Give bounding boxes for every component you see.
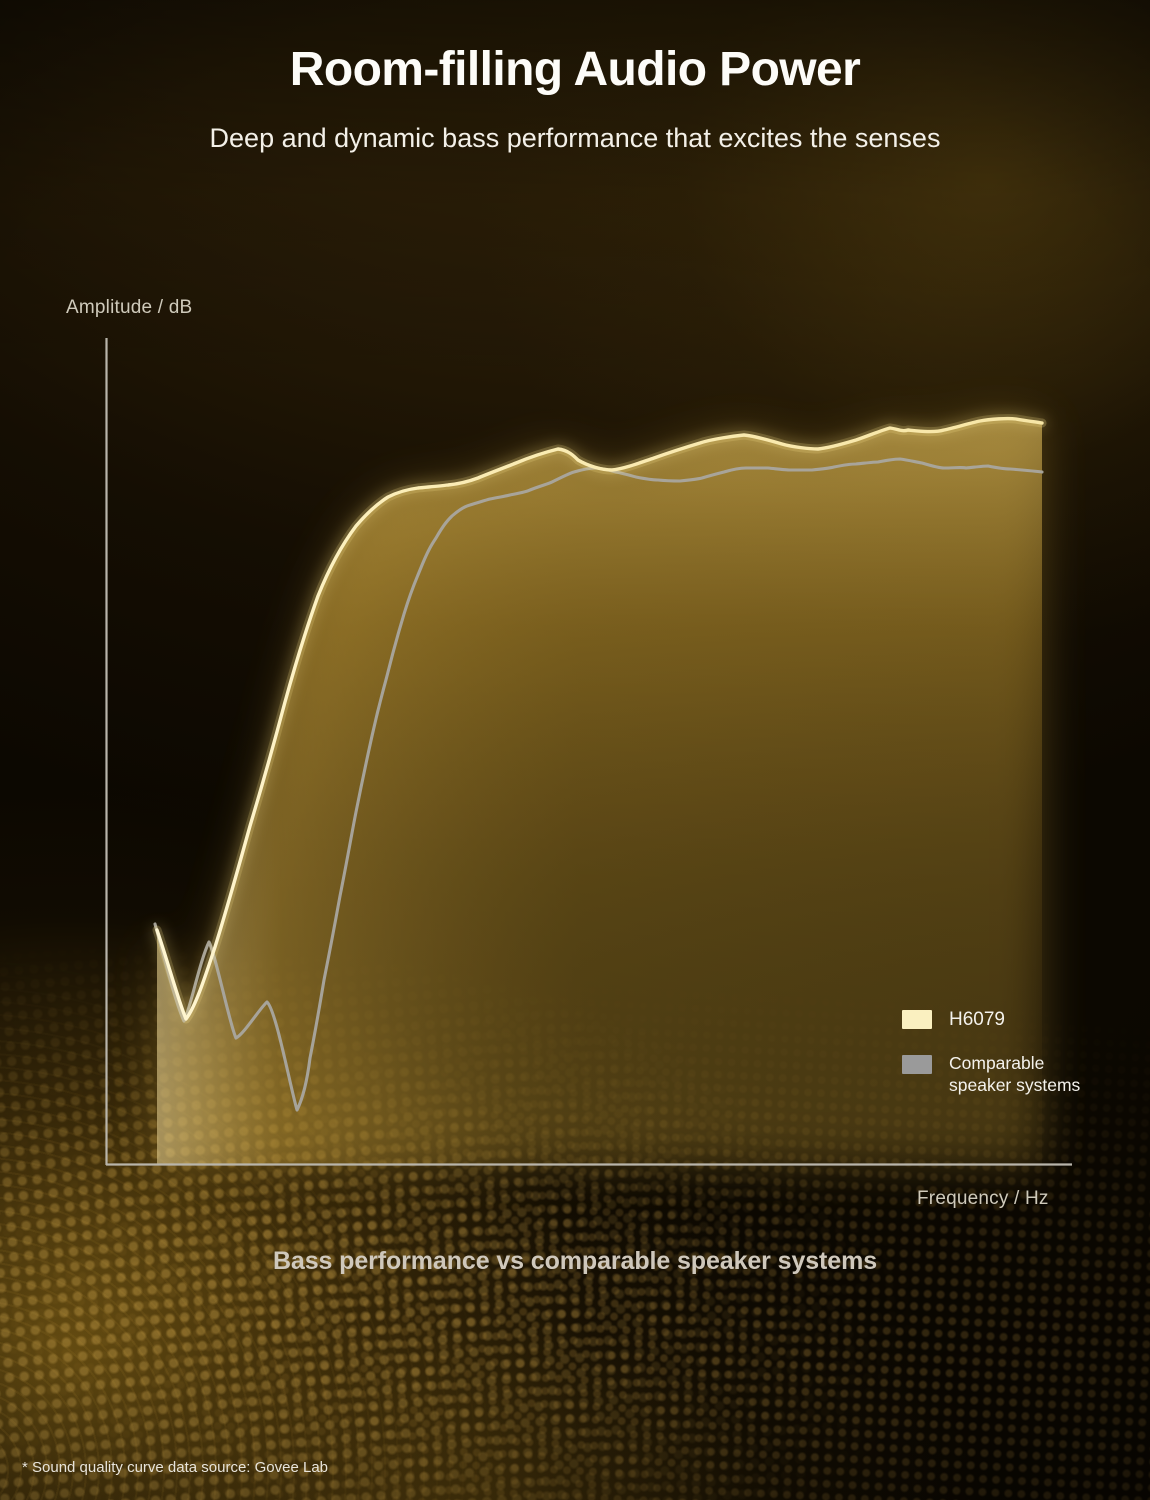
page-title: Room-filling Audio Power bbox=[0, 44, 1150, 96]
legend-item-comparable[interactable]: Comparable speaker systems bbox=[902, 1053, 1080, 1096]
page-subtitle: Deep and dynamic bass performance that e… bbox=[0, 122, 1150, 154]
legend-item-h6079[interactable]: H6079 bbox=[902, 1008, 1080, 1031]
y-axis-label: Amplitude / dB bbox=[66, 297, 192, 319]
legend-swatch-comparable bbox=[902, 1055, 932, 1074]
header: Room-filling Audio Power Deep and dynami… bbox=[0, 44, 1150, 154]
infographic-page: Room-filling Audio Power Deep and dynami… bbox=[0, 0, 1150, 1500]
x-axis-label: Frequency / Hz bbox=[917, 1188, 1049, 1210]
chart-legend: H6079 Comparable speaker systems bbox=[902, 1008, 1080, 1096]
legend-label-comparable: Comparable speaker systems bbox=[949, 1053, 1080, 1096]
legend-swatch-h6079 bbox=[902, 1010, 932, 1029]
legend-label-h6079: H6079 bbox=[949, 1008, 1005, 1031]
data-source-footnote: * Sound quality curve data source: Govee… bbox=[22, 1459, 328, 1476]
chart-caption: Bass performance vs comparable speaker s… bbox=[0, 1247, 1150, 1276]
